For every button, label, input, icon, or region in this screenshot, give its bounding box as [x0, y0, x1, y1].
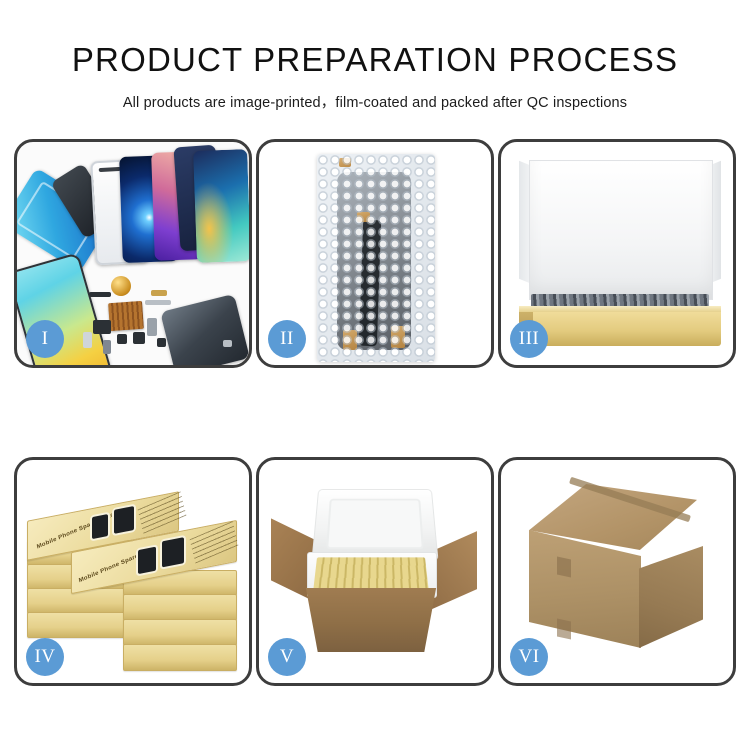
kraft-tape: [391, 326, 405, 348]
header: PRODUCT PREPARATION PROCESS All products…: [0, 0, 750, 112]
small-part: [89, 292, 111, 297]
step-badge-4: IV: [26, 638, 64, 676]
retail-box: [27, 612, 133, 638]
process-step-6[interactable]: VI: [498, 457, 736, 686]
small-part: [117, 334, 127, 344]
phone-graphic: [138, 547, 156, 574]
product-preparation-infographic: PRODUCT PREPARATION PROCESS All products…: [0, 0, 750, 750]
process-step-2[interactable]: II: [256, 139, 494, 368]
small-part: [151, 290, 167, 296]
speaker-component: [111, 276, 131, 296]
sealed-shipping-carton: [521, 484, 713, 660]
small-part: [103, 340, 111, 354]
small-part: [145, 300, 171, 305]
box-spec-lines: [190, 521, 239, 563]
logic-board: [108, 301, 144, 331]
retail-box: [123, 619, 237, 646]
carton-side-face: [639, 546, 703, 648]
phone-back-housing: [160, 294, 249, 365]
kraft-tape: [357, 212, 370, 222]
page-subtitle: All products are image-printed，film-coat…: [0, 91, 750, 112]
process-step-grid: I II: [14, 139, 736, 686]
phone-graphic: [162, 537, 184, 567]
step-badge-6: VI: [510, 638, 548, 676]
retail-box-stack: Mobile Phone Spare Parts Mobile Phone Sp…: [27, 482, 241, 670]
small-part: [157, 338, 166, 347]
small-part: [147, 318, 157, 336]
carton-body: [297, 588, 445, 652]
bubble-wrap-bag: [317, 154, 435, 362]
kraft-tape: [343, 330, 357, 350]
kraft-box-front: [519, 312, 721, 346]
phone-graphic: [92, 514, 108, 539]
carton-tape-mark: [557, 619, 571, 640]
kraft-tape: [339, 158, 351, 167]
phone-graphic: [114, 506, 134, 534]
page-title: PRODUCT PREPARATION PROCESS: [0, 42, 750, 78]
process-step-1[interactable]: I: [14, 139, 252, 368]
retail-box: [123, 594, 237, 621]
retail-box: [123, 644, 237, 671]
process-step-3[interactable]: III: [498, 139, 736, 368]
step-badge-1: I: [26, 320, 64, 358]
step-badge-3: III: [510, 320, 548, 358]
white-box-lid: [529, 160, 713, 300]
small-part: [93, 320, 111, 334]
teal-gradient-screen: [193, 149, 249, 263]
step-badge-2: II: [268, 320, 306, 358]
carton-front-face: [529, 530, 641, 648]
box-spec-lines: [138, 491, 187, 533]
process-step-5[interactable]: V: [256, 457, 494, 686]
foam-lid-inner: [326, 499, 424, 550]
small-part: [83, 332, 92, 348]
process-step-4[interactable]: Mobile Phone Spare Parts Mobile Phone Sp…: [14, 457, 252, 686]
foam-lid: [311, 489, 438, 561]
carton-tape-mark: [557, 557, 571, 578]
step-badge-5: V: [268, 638, 306, 676]
small-part: [133, 332, 145, 344]
small-part: [223, 340, 232, 347]
